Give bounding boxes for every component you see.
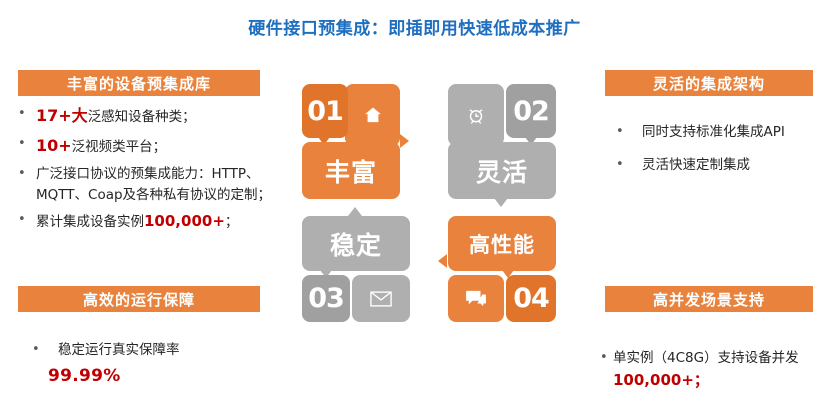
list-item-text: 广泛接口协议的预集成能力：HTTP、MQTT、Coap及各种私有协议的定制； — [36, 164, 286, 206]
list-item-text: 泛感知设备种类； — [88, 109, 196, 125]
slide-canvas: 硬件接口预集成：即插即用快速低成本推广 丰富的设备预集成库 • 17+大泛感知设… — [0, 0, 829, 415]
metric-value: 10+ — [36, 136, 72, 155]
quadrant-03-label: 稳定 — [302, 216, 410, 271]
quadrant-04-label-box: 高性能 — [448, 216, 556, 271]
quadrant-02-label: 灵活 — [448, 142, 556, 199]
list-item-suffix: ； — [225, 214, 239, 230]
list-item: • 同时支持标准化集成API — [612, 122, 827, 143]
list-item: • 17+大泛感知设备种类； — [14, 104, 286, 129]
quadrant-01-label-box: 丰富 — [302, 142, 400, 199]
bullet-dot: • — [14, 164, 36, 184]
quadrant-04-icon-panel — [448, 275, 504, 322]
envelope-icon — [352, 275, 410, 322]
quadrant-02-icon-panel — [448, 84, 504, 146]
panel-header-right-top: 灵活的集成架构 — [605, 70, 813, 96]
list-item-text: 稳定运行真实保障率 — [58, 340, 284, 361]
quadrant-04-badge: 04 — [506, 275, 556, 322]
quadrant-03-icon-panel — [352, 275, 410, 322]
list-item-label: 单实例（4C8G）支持设备并发100,000+； — [613, 348, 829, 392]
bullet-dot: • — [598, 348, 613, 368]
list-item-label: 10+泛视频类平台； — [36, 134, 286, 159]
bullet-dot: • — [612, 122, 642, 142]
quadrant-04-label: 高性能 — [448, 216, 556, 271]
list-item-text: 累计集成设备实例 — [36, 214, 144, 230]
panel-header-right-bottom: 高并发场景支持 — [605, 286, 813, 312]
quadrant-03-label-box: 稳定 — [302, 216, 410, 271]
bullet-dot: • — [14, 104, 36, 124]
list-item: • 累计集成设备实例100,000+； — [14, 210, 286, 233]
metric-value: 17+大 — [36, 106, 88, 125]
list-item: • 广泛接口协议的预集成能力：HTTP、MQTT、Coap及各种私有协议的定制； — [14, 164, 286, 206]
quadrant-01-label: 丰富 — [302, 142, 400, 199]
list-item: • 灵活快速定制集成 — [612, 155, 827, 176]
page-title: 硬件接口预集成：即插即用快速低成本推广 — [0, 14, 829, 39]
list-item: • 稳定运行真实保障率 — [22, 340, 284, 361]
list-item-text: 单实例（4C8G）支持设备并发 — [613, 350, 799, 366]
list-item-text: 泛视频类平台； — [72, 139, 167, 155]
bullet-dot: • — [22, 340, 58, 360]
quadrant-01-index: 01 — [302, 84, 348, 138]
home-icon — [345, 84, 400, 146]
alarm-clock-icon — [448, 84, 504, 146]
bullet-list-left-top: • 17+大泛感知设备种类； • 10+泛视频类平台； • 广泛接口协议的预集成… — [14, 104, 286, 239]
connector-arrow-right — [400, 134, 409, 148]
metric-value: 100,000+； — [613, 371, 709, 389]
quadrant-03-badge: 03 — [302, 275, 350, 322]
bullet-dot: • — [612, 155, 642, 175]
quadrant-03-index: 03 — [302, 275, 350, 322]
bullet-list-right-top: • 同时支持标准化集成API • 灵活快速定制集成 — [612, 122, 827, 181]
metric-value: 100,000+ — [144, 212, 225, 230]
quadrant-02-index: 02 — [506, 84, 556, 138]
quadrant-02-label-box: 灵活 — [448, 142, 556, 199]
quadrant-04-index: 04 — [506, 275, 556, 322]
panel-header-left-top: 丰富的设备预集成库 — [18, 70, 260, 96]
quadrant-diagram: 01 丰富 — [300, 82, 565, 322]
uptime-metric: 99.99% — [48, 366, 121, 386]
list-item: • 10+泛视频类平台； — [14, 134, 286, 159]
chat-bubble-icon — [448, 275, 504, 322]
list-item: • 单实例（4C8G）支持设备并发100,000+； — [598, 348, 829, 392]
bullet-list-right-bottom: • 单实例（4C8G）支持设备并发100,000+； — [598, 348, 829, 397]
bullet-dot: • — [14, 134, 36, 154]
quadrant-01-icon-panel — [345, 84, 400, 146]
quadrant-02-badge: 02 — [506, 84, 556, 138]
list-item-label: 17+大泛感知设备种类； — [36, 104, 286, 129]
bullet-list-left-bottom: • 稳定运行真实保障率 99.99% — [22, 340, 284, 386]
panel-header-left-bottom: 高效的运行保障 — [18, 286, 260, 312]
list-item-text: 同时支持标准化集成API — [642, 122, 827, 143]
list-item-label: 累计集成设备实例100,000+； — [36, 210, 286, 233]
connector-arrow-up — [348, 207, 362, 216]
connector-arrow-down — [494, 198, 508, 207]
quadrant-01-badge: 01 — [302, 84, 348, 138]
list-item-text: 灵活快速定制集成 — [642, 155, 827, 176]
connector-arrow-left — [438, 254, 447, 268]
bullet-dot: • — [14, 210, 36, 230]
